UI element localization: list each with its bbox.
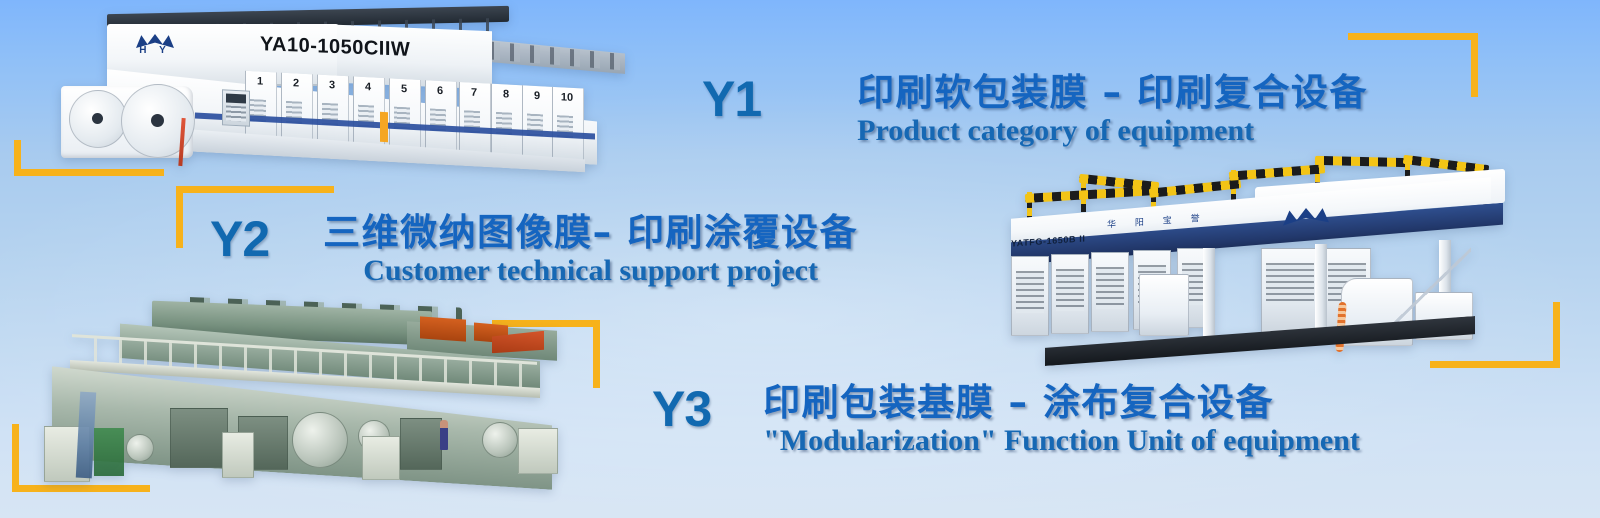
machine-image-coating-line <box>22 300 572 490</box>
text-row-y1: Y1 印刷软包装膜 – 印刷复合设备 Product category of e… <box>702 74 1368 146</box>
press-unit-number: 4 <box>353 80 383 94</box>
text-row-y3: Y3 印刷包装基膜 – 涂布复合设备 "Modularization" Func… <box>652 384 1360 456</box>
row-heading-en-y3: "Modularization" Function Unit of equipm… <box>763 425 1360 457</box>
coating-line-module <box>400 418 442 470</box>
machine-image-laminator: 华 阳 宝 誉 YATFG-1650B II <box>985 152 1515 367</box>
row-heading-en-y2: Customer technical support project <box>323 255 858 287</box>
press-unit-number: 10 <box>552 91 582 105</box>
laminator-safety-rail <box>1229 164 1325 181</box>
laminator-support-column <box>1203 248 1215 336</box>
row-heading-en-y1: Product category of equipment <box>857 115 1368 147</box>
coating-line-roller <box>292 412 348 468</box>
row-heading-cn-y1: 印刷软包装膜 – 印刷复合设备 <box>857 74 1368 113</box>
laminator-cabinet <box>1139 274 1189 336</box>
laminator-brand-logo <box>1283 206 1329 225</box>
press-unit-number: 3 <box>317 79 347 93</box>
press-unit-number: 2 <box>281 77 311 91</box>
coating-line-cabinet <box>222 432 254 478</box>
laminator-support-column <box>1315 244 1327 336</box>
machine-image-gravure-press: H Y YA10-1050CIIW 1 2 3 4 5 6 7 8 9 10 <box>55 8 600 180</box>
row-text-y2: 三维微纳图像膜– 印刷涂覆设备 Customer technical suppo… <box>323 214 858 286</box>
row-text-y1: 印刷软包装膜 – 印刷复合设备 Product category of equi… <box>857 74 1368 146</box>
press-reel-hub <box>151 114 164 127</box>
press-unit-number: 1 <box>245 75 275 89</box>
coating-line-roller <box>482 422 518 458</box>
product-category-banner: H Y YA10-1050CIIW 1 2 3 4 5 6 7 8 9 10 <box>0 0 1600 518</box>
coating-line-orange-unit <box>420 316 466 341</box>
coating-line-green-web <box>94 428 124 476</box>
row-heading-cn-y2: 三维微纳图像膜– 印刷涂覆设备 <box>323 214 858 253</box>
press-unit-number: 7 <box>459 86 489 100</box>
press-unit-number: 8 <box>491 88 521 102</box>
row-code-y2: Y2 <box>210 214 269 264</box>
coating-line-module <box>170 408 228 468</box>
coating-line-roller <box>126 434 154 462</box>
text-row-y2: Y2 三维微纳图像膜– 印刷涂覆设备 Customer technical su… <box>210 214 858 286</box>
press-control-panel <box>222 89 250 126</box>
coating-line-cabinet <box>362 436 400 480</box>
laminator-safety-rail <box>1149 179 1241 198</box>
press-unit-number: 6 <box>425 84 455 98</box>
press-yellow-marker <box>380 112 388 142</box>
press-unit-number: 9 <box>522 89 552 103</box>
row-text-y3: 印刷包装基膜 – 涂布复合设备 "Modularization" Functio… <box>763 384 1360 456</box>
coating-line-operator <box>440 420 448 450</box>
row-code-y1: Y1 <box>702 74 761 124</box>
row-heading-cn-y3: 印刷包装基膜 – 涂布复合设备 <box>763 384 1360 423</box>
laminator-safety-rail <box>1315 156 1409 167</box>
press-reel-hub <box>92 113 103 124</box>
row-code-y3: Y3 <box>652 384 711 434</box>
press-unit-number: 5 <box>389 82 419 96</box>
coating-line-cabinet <box>518 428 558 474</box>
press-brand-logo: H Y <box>130 34 180 56</box>
